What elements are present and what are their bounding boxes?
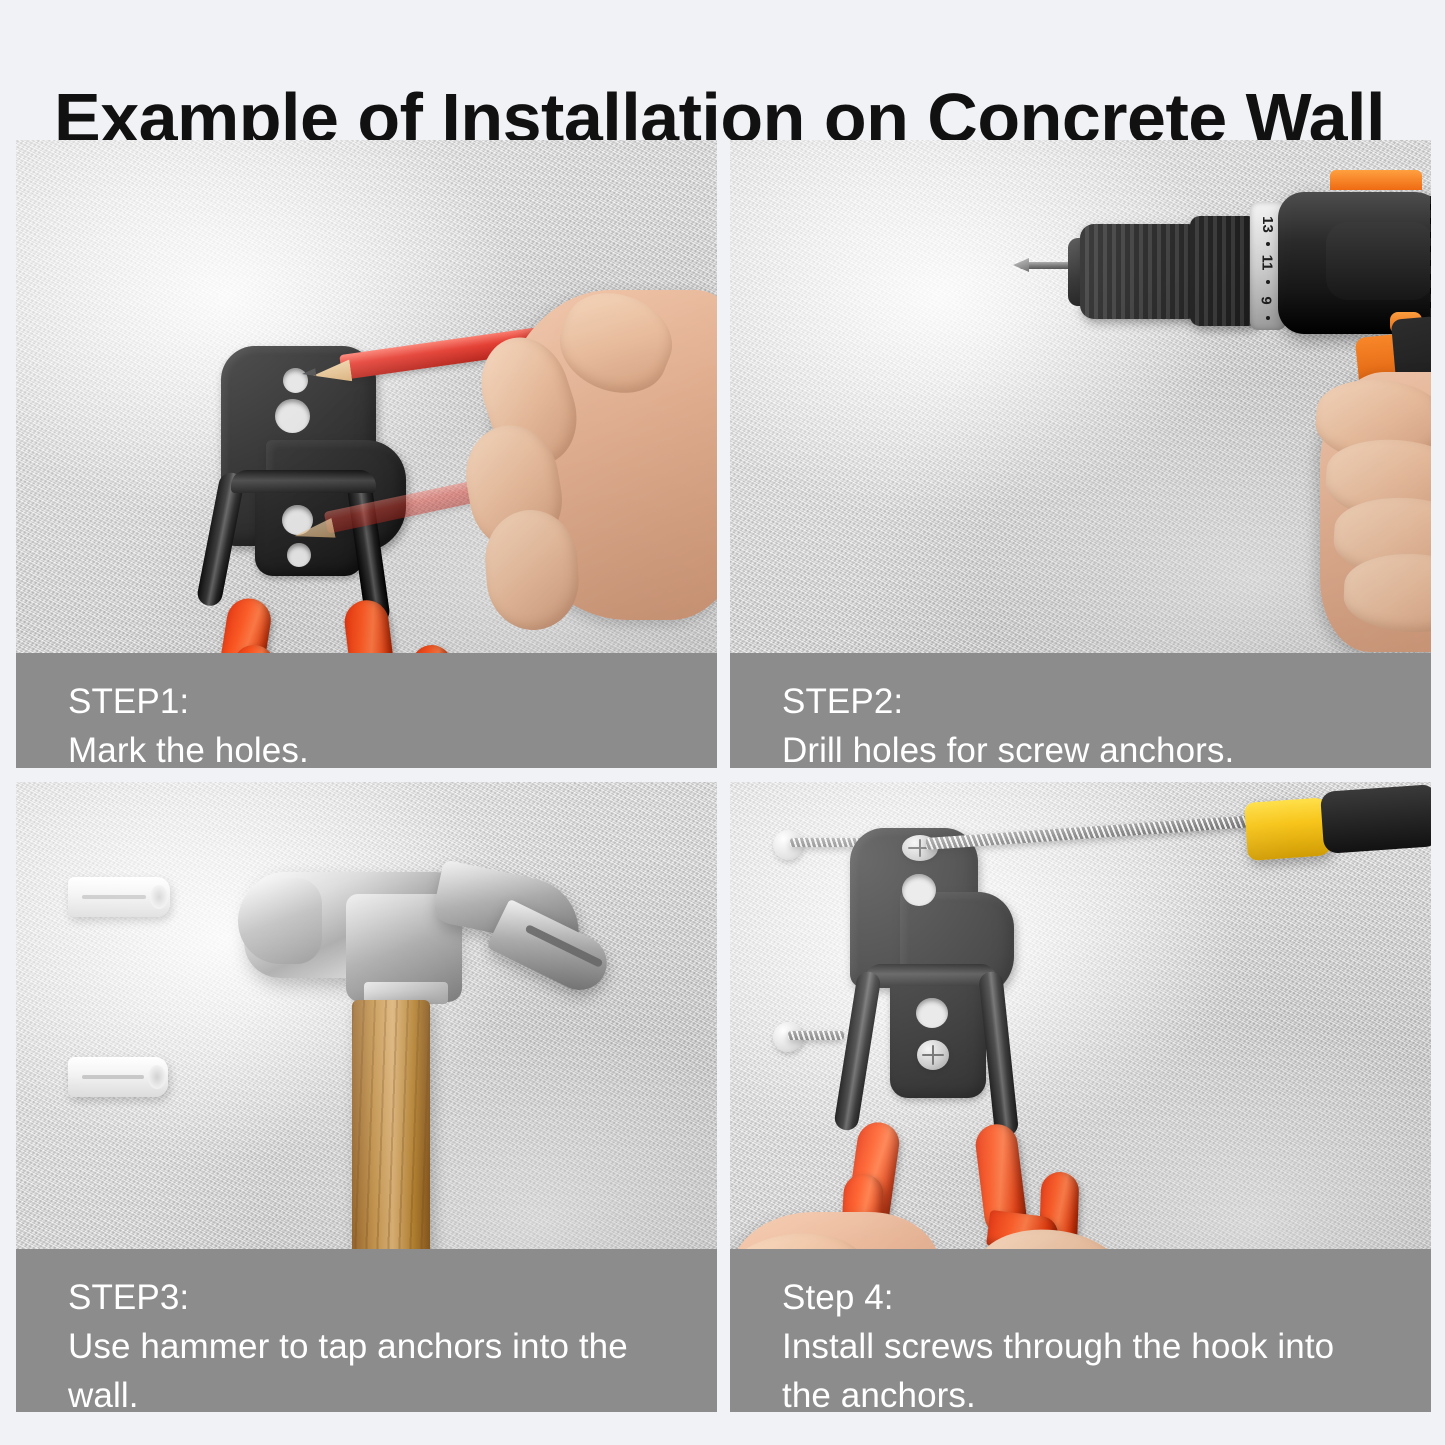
mounting-plate-lower (890, 972, 986, 1098)
torque-mark-9: 9 (1258, 296, 1275, 304)
step-panel-4[interactable]: Step 4: Install screws through the hook … (730, 782, 1431, 1412)
step-1-label: STEP1: (68, 677, 665, 726)
hook-bridge (231, 470, 376, 493)
step-1-text: Mark the holes. (68, 726, 665, 768)
drill-rear-vents (1430, 196, 1431, 336)
step-4-text: Install screws through the hook into the… (782, 1322, 1379, 1412)
hammer-face (238, 878, 322, 964)
torque-dot-2 (1266, 280, 1270, 284)
plate-hole-4 (287, 543, 311, 567)
drill-chuck (1080, 224, 1202, 319)
step-3-label: STEP3: (68, 1273, 665, 1322)
step-panel-1[interactable]: STEP1: Mark the holes. (16, 140, 717, 768)
screw-lower-thread (788, 1031, 844, 1040)
step-panel-2[interactable]: 13 11 9 (730, 140, 1431, 768)
torque-mark-13: 13 (1259, 216, 1276, 233)
drill-top-accent (1330, 170, 1422, 190)
step-3-text: Use hammer to tap anchors into the wall. (68, 1322, 665, 1412)
step-1-caption: STEP1: Mark the holes. (16, 653, 717, 768)
screwdriver-grip (1320, 784, 1431, 854)
torque-dot-1 (1266, 242, 1270, 246)
drill-gear-collar (1190, 216, 1258, 326)
step-panel-3[interactable]: STEP3: Use hammer to tap anchors into th… (16, 782, 717, 1412)
step-3-caption: STEP3: Use hammer to tap anchors into th… (16, 1249, 717, 1412)
wall-anchor-top (68, 877, 170, 917)
plate-hole-2 (275, 399, 310, 433)
step-4-caption: Step 4: Install screws through the hook … (730, 1249, 1431, 1412)
hook-bridge (865, 964, 997, 986)
wall-anchor-bottom (68, 1057, 168, 1097)
drill-body-panel (1326, 222, 1431, 300)
step-2-text: Drill holes for screw anchors. (782, 726, 1379, 768)
step-2-caption: STEP2: Drill holes for screw anchors. (730, 653, 1431, 768)
screw-head-lower (917, 1040, 949, 1070)
step-2-label: STEP2: (782, 677, 1379, 726)
drill-bit-tip (1013, 258, 1029, 272)
hook-arm-left (833, 970, 882, 1132)
step-4-label: Step 4: (782, 1273, 1379, 1322)
anchor-slot (82, 1075, 144, 1079)
plate-hole-upper (902, 874, 936, 906)
anchor-slot (82, 895, 145, 899)
plate-hole-lower (916, 998, 948, 1028)
plate-hole-1 (283, 368, 308, 393)
installation-guide-page: Example of Installation on Concrete Wall (0, 0, 1445, 1445)
torque-mark-11: 11 (1258, 255, 1275, 271)
screw-long-shaft (926, 815, 1256, 850)
torque-dot-3 (1266, 316, 1270, 320)
steps-grid: STEP1: Mark the holes. 13 11 (16, 140, 1427, 1412)
